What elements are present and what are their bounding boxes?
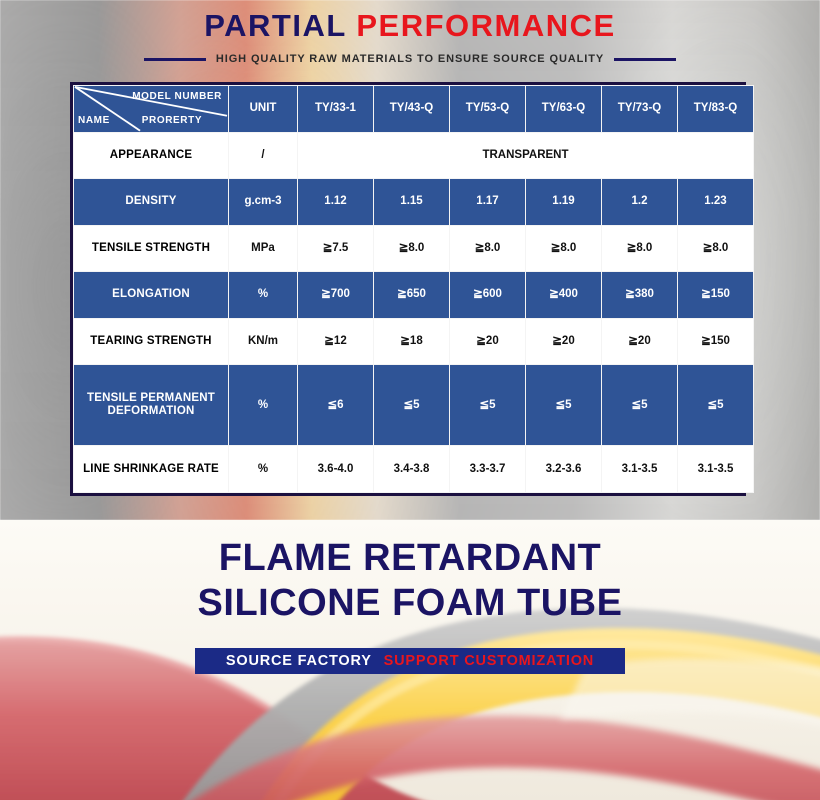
- cell-value: ≦5: [374, 365, 449, 445]
- table-row: TENSILE PERMANENT DEFORMATION%≦6≦5≦5≦5≦5…: [74, 365, 753, 445]
- corner-label-property: PRORERTY: [142, 114, 202, 127]
- cell-value: 1.17: [450, 179, 525, 225]
- table-header-unit: UNIT: [229, 86, 297, 132]
- table-row: TENSILE STRENGTHMPa≧7.5≧8.0≧8.0≧8.0≧8.0≧…: [74, 226, 753, 272]
- cell-value: ≧380: [602, 272, 677, 318]
- row-unit: %: [229, 446, 297, 492]
- cell-value: 1.23: [678, 179, 753, 225]
- cell-value: ≧150: [678, 319, 753, 365]
- cell-value: 3.1-3.5: [678, 446, 753, 492]
- cell-value: ≧8.0: [678, 226, 753, 272]
- row-label: TENSILE PERMANENT DEFORMATION: [74, 365, 228, 445]
- corner-label-name: NAME: [78, 114, 110, 127]
- banner-line-2: SILICONE FOAM TUBE: [0, 581, 820, 626]
- divider-left: [144, 58, 206, 61]
- row-unit: KN/m: [229, 319, 297, 365]
- badge-source-factory: SOURCE FACTORY: [226, 653, 372, 669]
- table-header-row: MODEL NUMBERPRORERTYNAMEUNITTY/33-1TY/43…: [74, 86, 753, 132]
- cell-value: 3.4-3.8: [374, 446, 449, 492]
- row-label: LINE SHRINKAGE RATE: [74, 446, 228, 492]
- subtitle-row: HIGH QUALITY RAW MATERIALS TO ENSURE SOU…: [0, 53, 820, 65]
- cell-value: ≦5: [678, 365, 753, 445]
- banner-heading: FLAME RETARDANT SILICONE FOAM TUBE: [0, 536, 820, 626]
- cell-value: ≦5: [450, 365, 525, 445]
- cell-value: ≧400: [526, 272, 601, 318]
- status-badge: SOURCE FACTORY SUPPORT CUSTOMIZATION: [195, 648, 625, 674]
- cell-value: ≧600: [450, 272, 525, 318]
- cell-value: ≧8.0: [450, 226, 525, 272]
- row-unit: %: [229, 272, 297, 318]
- table-header-model-2: TY/43-Q: [374, 86, 449, 132]
- table-row: TEARING STRENGTHKN/m≧12≧18≧20≧20≧20≧150: [74, 319, 753, 365]
- cell-value: ≧700: [298, 272, 373, 318]
- cell-value: ≦5: [526, 365, 601, 445]
- cell-value: ≧8.0: [374, 226, 449, 272]
- row-label: APPEARANCE: [74, 133, 228, 179]
- cell-value: ≧20: [450, 319, 525, 365]
- cell-value: 3.2-3.6: [526, 446, 601, 492]
- table-row: LINE SHRINKAGE RATE%3.6-4.03.4-3.83.3-3.…: [74, 446, 753, 492]
- specification-table-container: MODEL NUMBERPRORERTYNAMEUNITTY/33-1TY/43…: [70, 82, 746, 496]
- cell-value: 1.19: [526, 179, 601, 225]
- table-header-model-6: TY/83-Q: [678, 86, 753, 132]
- row-unit: g.cm-3: [229, 179, 297, 225]
- cell-value: 3.1-3.5: [602, 446, 677, 492]
- badge-support-customization: SUPPORT CUSTOMIZATION: [384, 653, 594, 669]
- page-title: PARTIAL PERFORMANCE: [0, 8, 820, 44]
- table-row: APPEARANCE/TRANSPARENT: [74, 133, 753, 179]
- row-unit: /: [229, 133, 297, 179]
- row-unit: MPa: [229, 226, 297, 272]
- cell-value: ≧150: [678, 272, 753, 318]
- cell-value: 1.15: [374, 179, 449, 225]
- row-label: TEARING STRENGTH: [74, 319, 228, 365]
- corner-label-model-number: MODEL NUMBER: [132, 90, 222, 103]
- table-row: DENSITYg.cm-31.121.151.171.191.21.23: [74, 179, 753, 225]
- banner-line-1: FLAME RETARDANT: [0, 536, 820, 581]
- cell-value: 1.2: [602, 179, 677, 225]
- row-label: DENSITY: [74, 179, 228, 225]
- row-label: ELONGATION: [74, 272, 228, 318]
- cell-value: ≧8.0: [526, 226, 601, 272]
- cell-value: 3.6-4.0: [298, 446, 373, 492]
- cell-value: ≧650: [374, 272, 449, 318]
- cell-value: ≦6: [298, 365, 373, 445]
- cell-value: ≧18: [374, 319, 449, 365]
- table-header-model-1: TY/33-1: [298, 86, 373, 132]
- title-block: PARTIAL PERFORMANCE HIGH QUALITY RAW MAT…: [0, 8, 820, 65]
- cell-value: ≧20: [526, 319, 601, 365]
- table-header-model-4: TY/63-Q: [526, 86, 601, 132]
- cell-value: 3.3-3.7: [450, 446, 525, 492]
- cell-value: ≧12: [298, 319, 373, 365]
- title-part-performance: PERFORMANCE: [356, 8, 615, 43]
- row-unit: %: [229, 365, 297, 445]
- row-label: TENSILE STRENGTH: [74, 226, 228, 272]
- specification-table: MODEL NUMBERPRORERTYNAMEUNITTY/33-1TY/43…: [73, 85, 754, 493]
- subtitle: HIGH QUALITY RAW MATERIALS TO ENSURE SOU…: [216, 53, 604, 65]
- cell-value: 1.12: [298, 179, 373, 225]
- cell-value: ≧20: [602, 319, 677, 365]
- title-part-partial: PARTIAL: [204, 8, 346, 43]
- table-header-model-5: TY/73-Q: [602, 86, 677, 132]
- table-corner-header: MODEL NUMBERPRORERTYNAME: [74, 86, 228, 132]
- cell-value: ≧8.0: [602, 226, 677, 272]
- cell-value: ≦5: [602, 365, 677, 445]
- row-merged-value: TRANSPARENT: [298, 133, 753, 179]
- table-row: ELONGATION%≧700≧650≧600≧400≧380≧150: [74, 272, 753, 318]
- cell-value: ≧7.5: [298, 226, 373, 272]
- table-header-model-3: TY/53-Q: [450, 86, 525, 132]
- top-section: PARTIAL PERFORMANCE HIGH QUALITY RAW MAT…: [0, 0, 820, 520]
- divider-right: [614, 58, 676, 61]
